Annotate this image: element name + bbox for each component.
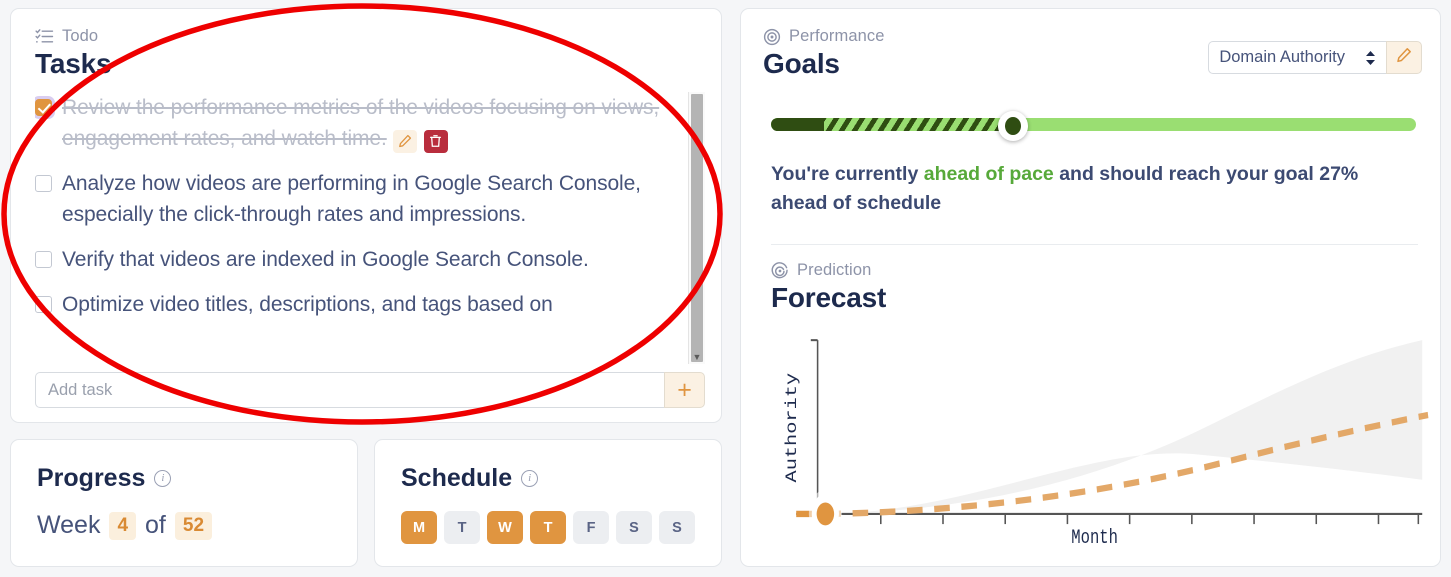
week-current-badge: 4 [109,512,136,540]
tasks-scroll-area: Review the performance metrics of the vi… [35,92,705,364]
goal-progress-solid-fill [771,118,824,131]
info-icon[interactable]: i [521,470,538,487]
schedule-day-toggles: M T W T F S S [401,511,695,544]
task-checkbox[interactable] [35,296,52,313]
day-toggle-friday[interactable]: F [573,511,609,544]
goal-progress-track [771,118,1416,131]
progress-card: Progress i Week 4 of 52 [10,439,358,567]
goal-metric-select[interactable]: Domain Authority [1208,41,1386,74]
day-toggle-sunday[interactable]: S [659,511,695,544]
progress-week-line: Week 4 of 52 [37,511,331,540]
task-checkbox[interactable] [35,251,52,268]
goals-eyebrow-label: Performance [789,27,885,46]
goal-progress-handle[interactable] [998,111,1028,141]
forecast-chart: Month Authority [769,330,1430,552]
day-toggle-thursday[interactable]: T [530,511,566,544]
pace-status-text: You're currently ahead of pace and shoul… [771,160,1385,218]
y-axis-ticks [811,340,818,514]
week-label: Week [37,511,100,540]
pencil-icon [1396,47,1412,68]
chevron-updown-icon [1365,50,1376,66]
goal-metric-value: Domain Authority [1219,48,1345,67]
checklist-icon [35,27,54,46]
day-toggle-tuesday[interactable]: T [444,511,480,544]
schedule-card: Schedule i M T W T F S S [374,439,722,567]
left-column: Todo Tasks Review the performance metric… [10,8,722,567]
section-divider [771,244,1418,245]
progress-title-label: Progress [37,464,145,493]
forecast-eyebrow-label: Prediction [797,261,871,280]
task-checkbox[interactable] [35,99,52,116]
goal-edit-button[interactable] [1386,41,1422,74]
day-toggle-wednesday[interactable]: W [487,511,523,544]
task-row[interactable]: Verify that videos are indexed in Google… [35,244,671,275]
task-row[interactable]: Review the performance metrics of the vi… [35,92,671,154]
progress-title: Progress i [37,464,331,493]
pencil-icon[interactable] [393,130,417,153]
day-toggle-saturday[interactable]: S [616,511,652,544]
chart-ylabel: Authority [784,373,801,483]
task-list: Review the performance metrics of the vi… [35,92,671,320]
info-icon[interactable]: i [154,470,171,487]
pace-prefix: You're currently [771,163,924,185]
week-total-badge: 52 [175,512,212,540]
forecast-eyebrow: Prediction [771,261,1430,280]
add-task-button[interactable]: + [664,372,705,408]
pace-highlight: ahead of pace [924,163,1054,185]
day-toggle-monday[interactable]: M [401,511,437,544]
goals-forecast-card: Performance Goals Domain Authority [740,8,1441,567]
tasks-scrollbar[interactable]: ▼ [688,92,705,364]
confidence-band [818,340,1423,514]
goal-progress-slider[interactable] [771,114,1416,134]
goals-title: Goals [763,48,885,80]
task-label: Analyze how videos are performing in Goo… [62,168,671,230]
week-of-label: of [145,511,166,540]
task-label: Verify that videos are indexed in Google… [62,244,589,275]
tasks-title: Tasks [35,48,705,80]
schedule-title-label: Schedule [401,464,512,493]
forecast-title: Forecast [771,282,1430,314]
goals-heading-block: Performance Goals [763,27,885,92]
goals-eyebrow: Performance [763,27,885,46]
target-icon [763,28,781,46]
task-row-actions [393,130,448,153]
task-row[interactable]: Analyze how videos are performing in Goo… [35,168,671,230]
scrollbar-down-arrow[interactable]: ▼ [689,352,705,362]
task-row[interactable]: Optimize video titles, descriptions, and… [35,289,671,320]
tasks-eyebrow: Todo [35,27,705,46]
current-position-marker[interactable] [809,490,842,538]
add-task-input[interactable] [35,372,664,408]
goals-header: Performance Goals Domain Authority [763,27,1430,92]
trash-icon[interactable] [424,130,448,153]
forecast-header: Prediction Forecast [771,261,1430,326]
goal-metric-control: Domain Authority [1208,41,1422,74]
task-label: Review the performance metrics of the vi… [62,92,671,154]
schedule-title: Schedule i [401,464,695,493]
task-checkbox[interactable] [35,175,52,192]
dashboard-page: Todo Tasks Review the performance metric… [0,0,1451,577]
tasks-card: Todo Tasks Review the performance metric… [10,8,722,423]
tasks-eyebrow-label: Todo [62,27,98,46]
scrollbar-thumb[interactable] [691,94,703,362]
summary-cards-row: Progress i Week 4 of 52 Schedule i M T [10,439,722,567]
task-label: Optimize video titles, descriptions, and… [62,289,553,320]
chart-xlabel: Month [1071,527,1118,549]
x-axis-ticks [818,514,1419,524]
add-task-row: + [35,372,705,408]
prediction-target-icon [771,262,789,280]
